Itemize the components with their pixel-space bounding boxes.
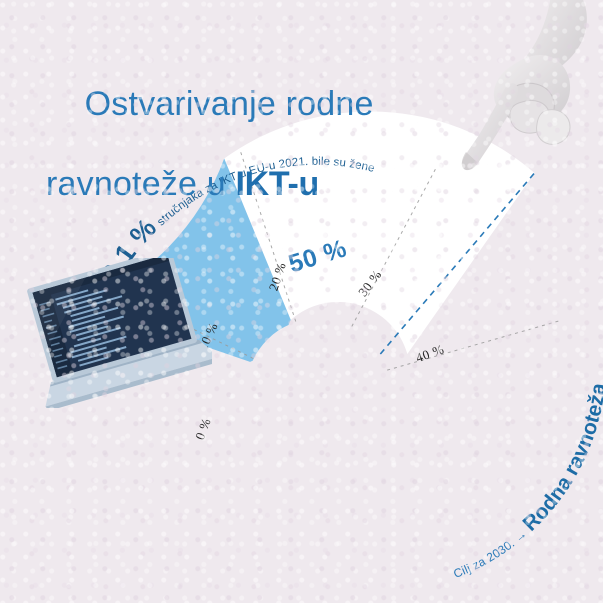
title-line-1: Ostvarivanje rodne xyxy=(85,85,374,123)
tick-label-40: 40 % xyxy=(414,341,446,365)
title-line-2-prefix: ravnoteže u xyxy=(46,165,236,203)
title-line-2: ravnoteže u IKT-u xyxy=(46,164,374,204)
infographic-canvas: Ostvarivanje rodne ravnoteže u IKT-u xyxy=(0,0,603,603)
title-highlight: IKT-u xyxy=(236,165,319,203)
page-title: Ostvarivanje rodne ravnoteže u IKT-u xyxy=(46,44,374,284)
tick-label-0: 0 % xyxy=(192,416,214,442)
gauge-target-caption: Cilj za 2030. → xyxy=(452,527,530,581)
pointing-hand-illustration xyxy=(430,0,603,194)
gauge-target-caption-bold: Rodna ravnoteža xyxy=(519,382,603,536)
gauge-target-curved-text: Cilj za 2030. → Rodna ravnoteža xyxy=(452,382,603,581)
gauge-inner-hole xyxy=(247,319,390,462)
